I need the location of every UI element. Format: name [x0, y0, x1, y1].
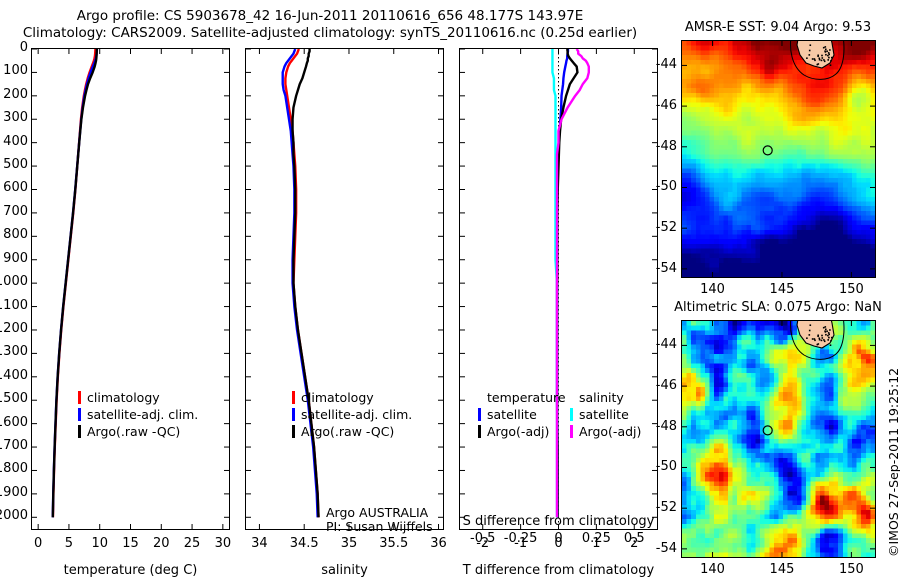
depth-tick-label: 400 [0, 134, 28, 149]
difference-temperature-axis-title: T difference from climatology [459, 563, 658, 578]
series-salinity-argo-adj- [557, 49, 589, 517]
attribution-line-2: PI: Susan Wijffels [326, 519, 433, 534]
map-y-tick-label: -54 [649, 261, 677, 276]
map-y-tick-label: -44 [649, 337, 677, 352]
legend-label: Argo(-adj) [579, 424, 641, 439]
series-satellite-adj-clim- [53, 49, 97, 517]
difference-profile-plot [460, 49, 657, 529]
map-y-tick-label: -50 [649, 179, 677, 194]
map-x-tick-label: 150 [829, 282, 873, 297]
legend-swatch [78, 391, 81, 404]
depth-tick-label: 100 [0, 63, 28, 78]
sst-map-title: AMSR-E SST: 9.04 Argo: 9.53 [672, 20, 884, 35]
legend-swatch [570, 408, 573, 421]
legend-swatch [292, 408, 295, 421]
salinity-profile-panel[interactable] [245, 48, 444, 530]
x-tick-label: 35.5 [370, 536, 418, 551]
map-x-tick-label: 140 [691, 282, 735, 297]
x-tick-label: 34 [235, 536, 283, 551]
credit-text: ©IMOS 27-Sep-2011 19:25:12 [886, 368, 900, 557]
series-argo-raw-qc- [53, 49, 97, 517]
depth-tick-label: 1700 [0, 438, 28, 453]
map-x-tick-label: 145 [760, 282, 804, 297]
depth-tick-label: 1000 [0, 274, 28, 289]
map-y-tick-label: -52 [649, 500, 677, 515]
legend-label: satellite [487, 407, 537, 422]
legend-label: Argo(.raw -QC) [301, 424, 394, 439]
legend-label: satellite [579, 407, 629, 422]
depth-tick-label: 2000 [0, 508, 28, 523]
legend-swatch [478, 408, 481, 421]
map-y-tick-label: -48 [649, 419, 677, 434]
figure-title: Argo profile: CS 5903678_42 16-Jun-2011 … [0, 8, 660, 42]
legend-label: climatology [301, 390, 374, 405]
map-y-tick-label: -44 [649, 57, 677, 72]
map-y-tick-label: -46 [649, 98, 677, 113]
map-y-tick-label: -46 [649, 378, 677, 393]
depth-tick-label: 300 [0, 110, 28, 125]
series-satellite-adj-clim- [283, 49, 318, 517]
sla-map-panel[interactable] [681, 320, 876, 558]
x-tick-label: 34.5 [280, 536, 328, 551]
legend-swatch [292, 391, 295, 404]
legend-swatch [78, 408, 81, 421]
salinity-axis-title: salinity [245, 563, 444, 578]
sst-map-image [682, 41, 875, 277]
depth-tick-label: 200 [0, 87, 28, 102]
depth-tick-label: 500 [0, 157, 28, 172]
temperature-axis-title: temperature (deg C) [31, 563, 230, 578]
depth-tick-label: 1300 [0, 344, 28, 359]
depth-tick-label: 1900 [0, 485, 28, 500]
attribution-line-1: Argo AUSTRALIA [326, 505, 428, 520]
sst-map-panel[interactable] [681, 40, 876, 278]
legend-group-header: salinity [579, 390, 624, 405]
difference-profile-panel[interactable] [459, 48, 658, 530]
map-x-tick-label: 150 [829, 562, 873, 577]
depth-tick-label: 1800 [0, 461, 28, 476]
map-y-tick-label: -50 [649, 459, 677, 474]
depth-tick-label: 600 [0, 180, 28, 195]
sla-map-image [682, 321, 875, 557]
depth-tick-label: 1200 [0, 321, 28, 336]
sla-map-title: Altimetric SLA: 0.075 Argo: NaN [672, 300, 884, 315]
x-tick-label: 35 [325, 536, 373, 551]
depth-tick-label: 1100 [0, 298, 28, 313]
depth-tick-label: 1500 [0, 391, 28, 406]
legend-label: satellite-adj. clim. [301, 407, 412, 422]
salinity-profile-plot [246, 49, 443, 529]
series-argo-raw-qc- [293, 49, 319, 517]
map-y-tick-label: -52 [649, 220, 677, 235]
legend-swatch [292, 425, 295, 438]
legend-swatch [78, 425, 81, 438]
depth-tick-label: 1400 [0, 368, 28, 383]
map-y-tick-label: -48 [649, 139, 677, 154]
depth-tick-label: 900 [0, 251, 28, 266]
title-line-2: Climatology: CARS2009. Satellite-adjuste… [0, 25, 660, 42]
depth-tick-label: 0 [0, 40, 28, 55]
legend-group-header: temperature [487, 390, 566, 405]
temperature-profile-panel[interactable] [31, 48, 230, 530]
legend-label: Argo(.raw -QC) [87, 424, 180, 439]
title-line-1: Argo profile: CS 5903678_42 16-Jun-2011 … [0, 8, 660, 25]
legend-label: climatology [87, 390, 160, 405]
legend-label: satellite-adj. clim. [87, 407, 198, 422]
depth-tick-label: 700 [0, 204, 28, 219]
legend-swatch [570, 425, 573, 438]
x-tick-label: 36 [415, 536, 463, 551]
difference-salinity-axis-title: S difference from climatology [459, 514, 658, 529]
series-climatology [53, 49, 95, 517]
map-x-tick-label: 145 [760, 562, 804, 577]
legend-swatch [478, 425, 481, 438]
depth-tick-label: 800 [0, 227, 28, 242]
map-y-tick-label: -54 [649, 541, 677, 556]
temperature-profile-plot [32, 49, 229, 529]
map-x-tick-label: 140 [691, 562, 735, 577]
depth-tick-label: 1600 [0, 415, 28, 430]
legend-label: Argo(-adj) [487, 424, 549, 439]
